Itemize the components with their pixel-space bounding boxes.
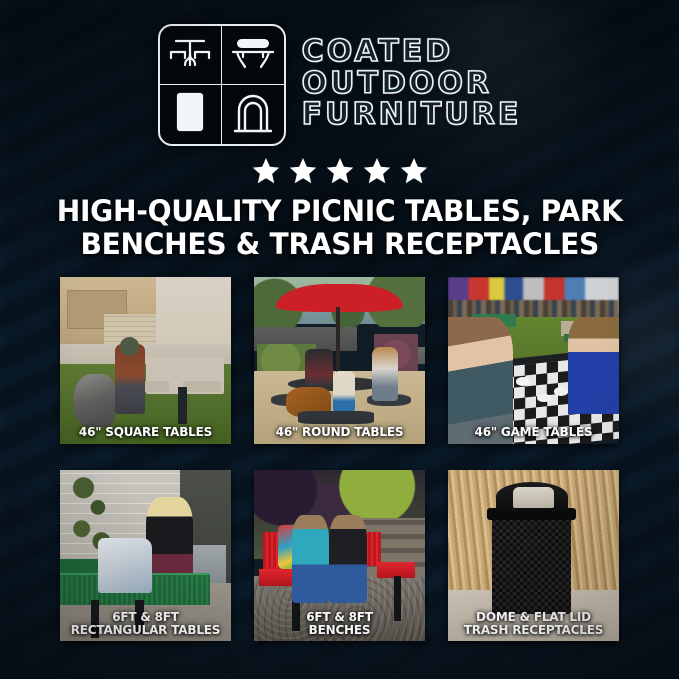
star-icon [362, 156, 392, 186]
brand-name-line-1: COATED [302, 37, 522, 68]
page-title: HIGH-QUALITY PICNIC TABLES, PARK BENCHES… [57, 195, 623, 261]
photo-round-tables [254, 277, 425, 444]
tile-caption: 6FT & 8FT BENCHES [257, 610, 421, 638]
photo-square-tables [60, 277, 231, 444]
tile-caption-line-2: RECTANGULAR TABLES [71, 622, 221, 637]
tile-caption: 6FT & 8FT RECTANGULAR TABLES [63, 610, 227, 638]
headline-line-2: BENCHES & TRASH RECEPTACLES [57, 228, 623, 261]
tile-caption-line-1: 46" ROUND TABLES [276, 424, 404, 439]
star-icon [288, 156, 318, 186]
tile-caption-line-1: 6FT & 8FT [112, 609, 179, 624]
product-tile-trash-receptacles[interactable]: DOME & FLAT LID TRASH RECEPTACLES [448, 470, 619, 641]
tile-caption-line-1: 46" SQUARE TABLES [79, 424, 212, 439]
logo-mark-grid [158, 24, 286, 146]
promo-banner: COATED OUTDOOR FURNITURE HIGH-QUALITY PI… [0, 0, 679, 679]
tile-caption-line-2: BENCHES [309, 622, 371, 637]
brand-name-line-2: OUTDOOR [302, 69, 522, 100]
tile-caption-line-2: TRASH RECEPTACLES [464, 622, 603, 637]
product-tile-square-tables[interactable]: 46" SQUARE TABLES [60, 277, 231, 444]
product-tile-game-tables[interactable]: 46" GAME TABLES [448, 277, 619, 444]
product-tile-benches[interactable]: 6FT & 8FT BENCHES [254, 470, 425, 641]
product-tile-rectangular-tables[interactable]: 6FT & 8FT RECTANGULAR TABLES [60, 470, 231, 641]
tile-caption: DOME & FLAT LID TRASH RECEPTACLES [451, 610, 615, 638]
star-rating [251, 156, 429, 186]
brand-logo[interactable]: COATED OUTDOOR FURNITURE [158, 24, 522, 146]
logo-cell-picnic-table [160, 26, 222, 85]
headline-line-1: HIGH-QUALITY PICNIC TABLES, PARK [57, 195, 623, 228]
tile-caption-line-1: DOME & FLAT LID [476, 609, 591, 624]
tile-caption: 46" ROUND TABLES [257, 425, 421, 439]
picnic-table-icon [167, 34, 213, 77]
product-category-grid: 46" SQUARE TABLES [60, 277, 619, 641]
park-bench-icon [230, 35, 276, 76]
trash-receptacle-icon [170, 90, 210, 139]
photo-game-tables [448, 277, 619, 444]
logo-cell-bike-rack-arch [222, 85, 284, 144]
tile-caption: 46" GAME TABLES [451, 425, 615, 439]
bike-rack-arch-icon [232, 90, 274, 139]
star-icon [325, 156, 355, 186]
star-icon [251, 156, 281, 186]
star-icon [399, 156, 429, 186]
tile-caption-line-1: 6FT & 8FT [306, 609, 373, 624]
logo-cell-trash-receptacle [160, 85, 222, 144]
brand-name: COATED OUTDOOR FURNITURE [302, 37, 522, 133]
tile-caption-line-1: 46" GAME TABLES [475, 424, 593, 439]
logo-cell-park-bench [222, 26, 284, 85]
tile-caption: 46" SQUARE TABLES [63, 425, 227, 439]
brand-name-line-3: FURNITURE [302, 100, 522, 131]
product-tile-round-tables[interactable]: 46" ROUND TABLES [254, 277, 425, 444]
